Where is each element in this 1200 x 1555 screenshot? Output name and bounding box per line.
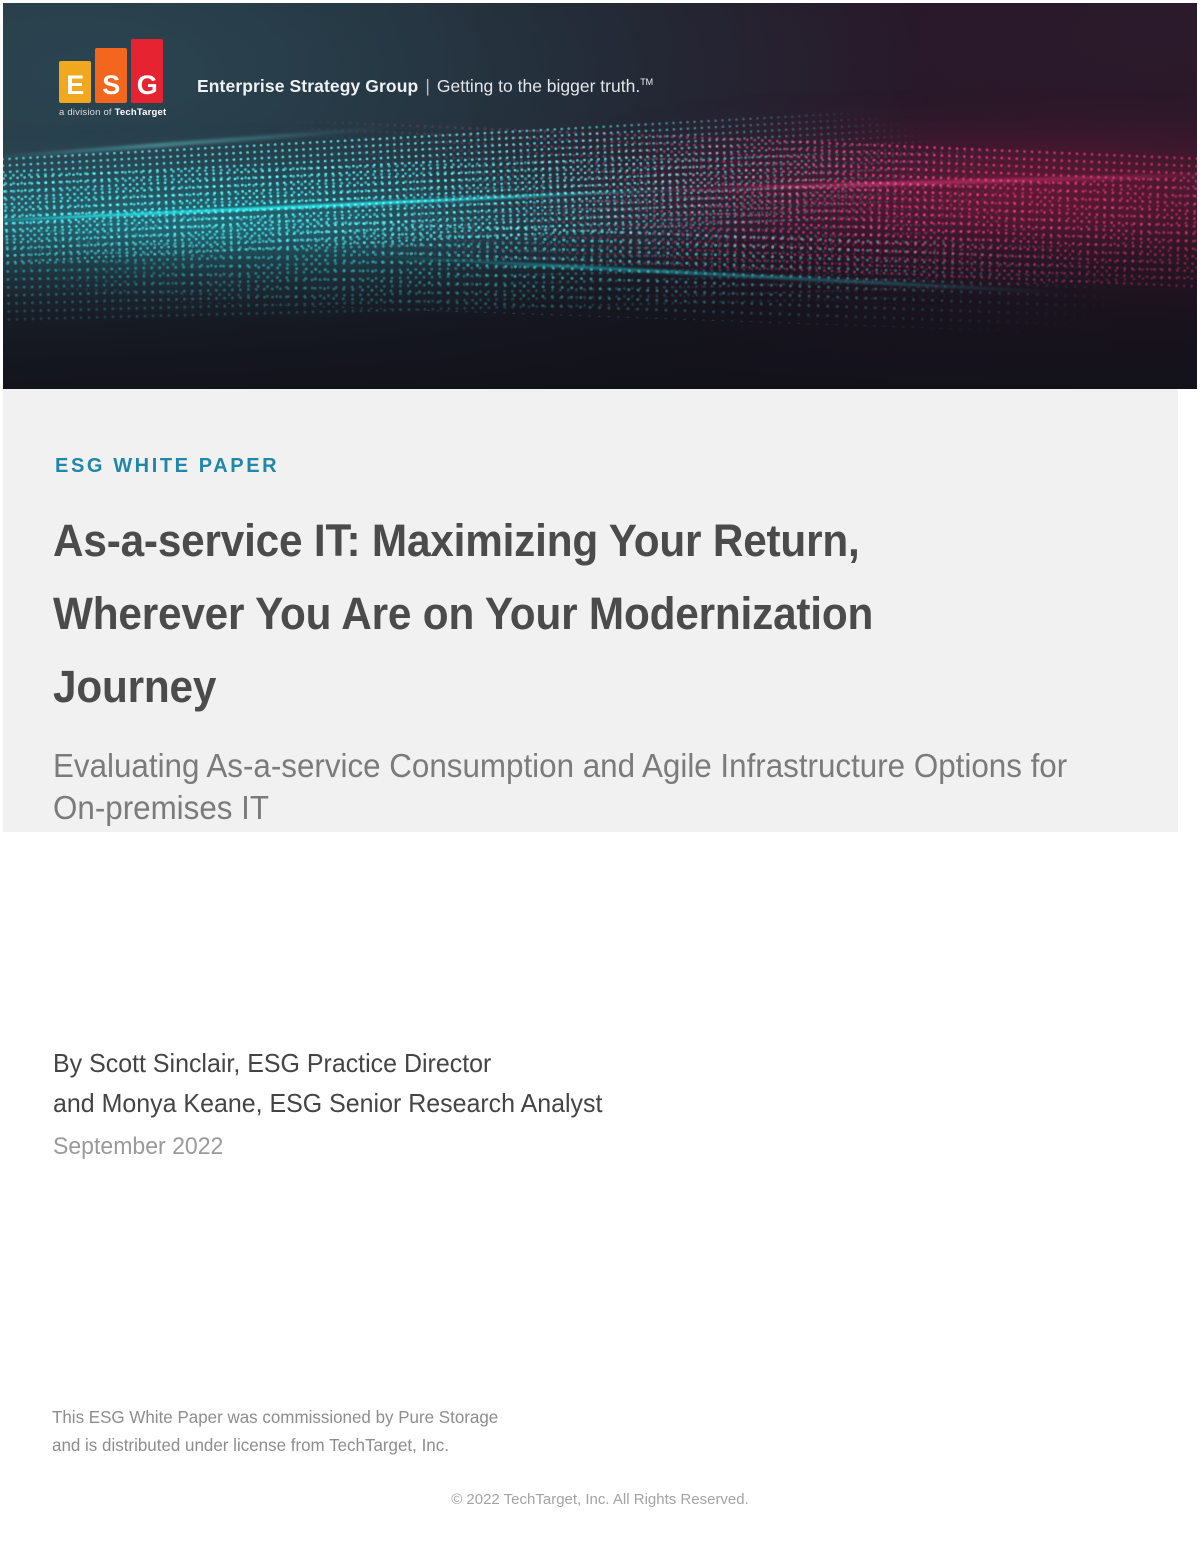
white-paper-cover-page: E S G a division of TechTarget Enterpris…	[0, 0, 1200, 1555]
author-byline: By Scott Sinclair, ESG Practice Director…	[53, 1043, 602, 1124]
esg-bar-g: G	[131, 39, 163, 103]
lockup-divider: |	[425, 76, 430, 96]
company-name: Enterprise Strategy Group	[197, 76, 418, 96]
esg-bar-chart-icon: E S G	[59, 41, 175, 103]
esg-division-tagline: a division of TechTarget	[59, 107, 175, 118]
page-subtitle: Evaluating As-a-service Consumption and …	[53, 745, 1127, 829]
company-tagline: Getting to the bigger truth.	[437, 76, 640, 96]
author-line-2: and Monya Keane, ESG Senior Research Ana…	[53, 1083, 602, 1123]
trademark-mark: TM	[640, 77, 653, 87]
author-line-1: By Scott Sinclair, ESG Practice Director	[53, 1043, 602, 1083]
esg-letter-e: E	[66, 72, 84, 103]
copyright-notice: © 2022 TechTarget, Inc. All Rights Reser…	[0, 1491, 1200, 1508]
esg-logo-lockup[interactable]: E S G a division of TechTarget Enterpris…	[59, 41, 653, 119]
document-type-kicker: ESG WHITE PAPER	[55, 455, 279, 478]
publication-date: September 2022	[53, 1133, 223, 1161]
esg-logo-mark: E S G a division of TechTarget	[59, 41, 175, 119]
banner-bottom-fade	[3, 227, 1197, 389]
commission-line-2: and is distributed under license from Te…	[52, 1431, 498, 1459]
techtarget-brand-name: TechTarget	[115, 107, 167, 118]
esg-letter-s: S	[102, 72, 120, 103]
esg-letter-g: G	[137, 72, 158, 103]
esg-bar-s: S	[95, 48, 127, 103]
esg-bar-e: E	[59, 61, 91, 103]
hero-banner: E S G a division of TechTarget Enterpris…	[3, 3, 1197, 389]
esg-division-prefix: a division of	[59, 107, 115, 118]
esg-wordmark-text: Enterprise Strategy Group|Getting to the…	[197, 76, 653, 119]
page-title: As-a-service IT: Maximizing Your Return,…	[53, 505, 1002, 724]
commission-statement: This ESG White Paper was commissioned by…	[52, 1403, 498, 1460]
commission-line-1: This ESG White Paper was commissioned by…	[52, 1403, 498, 1431]
